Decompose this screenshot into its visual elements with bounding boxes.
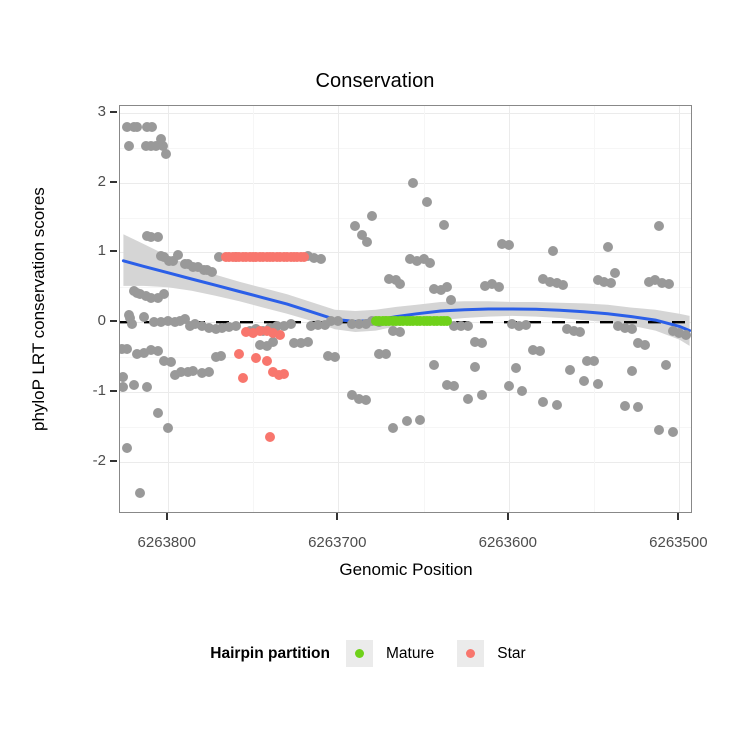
y-tick-mark [110, 111, 117, 113]
data-point-other [139, 312, 149, 322]
data-point-other [552, 400, 562, 410]
y-tick-label: -2 [76, 452, 106, 469]
data-point-other [395, 327, 405, 337]
data-point-star [262, 356, 272, 366]
data-point-other [521, 320, 531, 330]
data-point-other [395, 279, 405, 289]
x-tick-mark [677, 513, 679, 520]
data-point-other [408, 178, 418, 188]
data-point-other [361, 395, 371, 405]
data-point-other [122, 443, 132, 453]
y-tick-label: -1 [76, 382, 106, 399]
data-point-other [565, 365, 575, 375]
data-point-other [640, 340, 650, 350]
plot-panel [119, 105, 692, 513]
x-tick-label: 6263600 [453, 534, 563, 551]
legend-dot-star [466, 649, 475, 658]
data-point-other [286, 319, 296, 329]
data-point-other [463, 394, 473, 404]
data-point-other [153, 232, 163, 242]
data-point-star [238, 373, 248, 383]
x-tick-mark [507, 513, 509, 520]
x-tick-mark [166, 513, 168, 520]
legend: Hairpin partition Mature Star [0, 640, 750, 667]
x-tick-label: 6263500 [623, 534, 733, 551]
data-point-other [610, 268, 620, 278]
legend-label-star: Star [497, 645, 525, 663]
data-point-other [132, 122, 142, 132]
data-point-other [654, 221, 664, 231]
smooth-overlay [120, 106, 692, 513]
data-point-other [439, 220, 449, 230]
data-point-other [303, 337, 313, 347]
data-point-other [681, 330, 691, 340]
data-point-other [124, 141, 134, 151]
data-point-star [299, 252, 309, 262]
data-point-other [388, 423, 398, 433]
data-point-other [207, 267, 217, 277]
data-point-star [275, 330, 285, 340]
data-point-other [477, 390, 487, 400]
y-tick-mark [110, 460, 117, 462]
data-point-other [603, 242, 613, 252]
data-point-other [664, 279, 674, 289]
data-point-other [415, 415, 425, 425]
data-point-other [627, 324, 637, 334]
data-point-other [494, 282, 504, 292]
data-point-other [122, 344, 132, 354]
data-point-star [279, 369, 289, 379]
legend-dot-mature [355, 649, 364, 658]
y-tick-label: 0 [76, 312, 106, 329]
data-point-other [668, 427, 678, 437]
data-point-other [153, 408, 163, 418]
data-point-other [511, 363, 521, 373]
legend-label-mature: Mature [386, 645, 434, 663]
y-tick-label: 1 [76, 242, 106, 259]
data-point-other [129, 380, 139, 390]
x-tick-label: 6263700 [282, 534, 392, 551]
x-tick-label: 6263800 [112, 534, 222, 551]
x-tick-mark [336, 513, 338, 520]
data-point-other [231, 321, 241, 331]
data-point-other [127, 319, 137, 329]
data-point-other [517, 386, 527, 396]
data-point-other [477, 338, 487, 348]
data-point-other [330, 352, 340, 362]
x-axis-label: Genomic Position [119, 560, 693, 580]
y-tick-mark [110, 390, 117, 392]
y-tick-label: 2 [76, 173, 106, 190]
data-point-other [535, 346, 545, 356]
data-point-other [402, 416, 412, 426]
y-tick-mark [110, 320, 117, 322]
y-tick-mark [110, 250, 117, 252]
legend-title: Hairpin partition [210, 645, 330, 663]
data-point-other [620, 401, 630, 411]
data-point-other [627, 366, 637, 376]
chart-root: Conservation phyloP LRT conservation sco… [0, 0, 750, 750]
data-point-other [558, 280, 568, 290]
y-tick-mark [110, 181, 117, 183]
data-point-star [234, 349, 244, 359]
data-point-other [163, 423, 173, 433]
data-point-other [153, 346, 163, 356]
data-point-other [470, 362, 480, 372]
y-axis-label: phyloP LRT conservation scores [26, 105, 52, 513]
legend-key-mature[interactable] [346, 640, 373, 667]
legend-key-star[interactable] [457, 640, 484, 667]
page-title: Conservation [0, 70, 750, 93]
data-point-other [216, 351, 226, 361]
data-point-other [593, 379, 603, 389]
data-point-other [446, 295, 456, 305]
y-tick-label: 3 [76, 103, 106, 120]
